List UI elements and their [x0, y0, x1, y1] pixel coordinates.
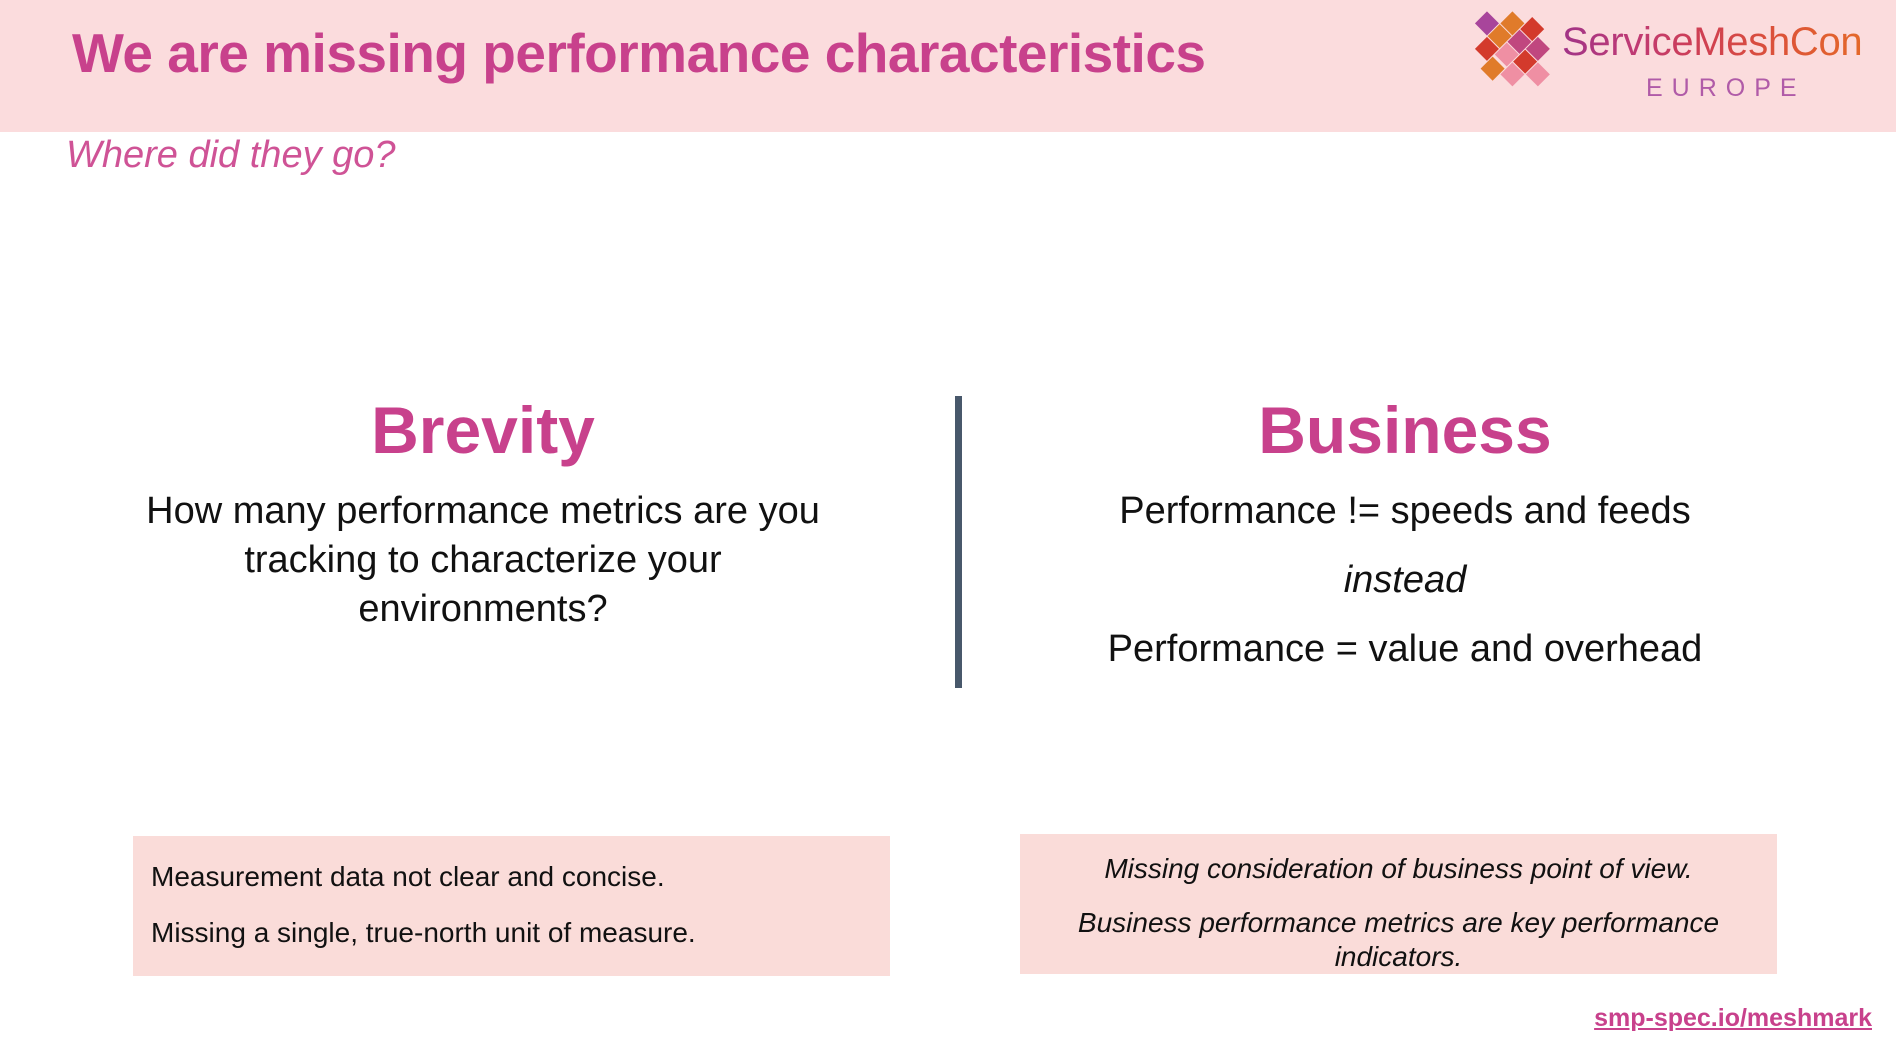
column-divider	[955, 396, 962, 688]
servicemeshcon-diamond-mesh-logo	[1468, 10, 1554, 92]
column-heading-business: Business	[1010, 396, 1800, 465]
slide-title: We are missing performance characteristi…	[72, 22, 1452, 85]
conference-logo: ServiceMeshCon EUROPE	[1468, 6, 1880, 124]
column-body-business: Performance != speeds and feeds instead …	[1010, 487, 1800, 673]
logo-region-label: EUROPE	[1646, 74, 1806, 103]
column-brevity: Brevity How many performance metrics are…	[88, 396, 878, 633]
callout-line: Missing consideration of business point …	[1050, 852, 1747, 886]
logo-wordmark: ServiceMeshCon	[1562, 20, 1862, 65]
body-line: Performance = value and overhead	[1010, 625, 1800, 674]
callout-line: Business performance metrics are key per…	[1050, 906, 1747, 974]
callout-brevity: Measurement data not clear and concise. …	[133, 836, 890, 976]
body-line: Performance != speeds and feeds	[1010, 487, 1800, 536]
footer-link-smp-spec[interactable]: smp-spec.io/meshmark	[1594, 1004, 1872, 1033]
body-line: How many performance metrics are you tra…	[133, 487, 833, 633]
callout-line: Measurement data not clear and concise.	[151, 860, 872, 894]
slide-subtitle: Where did they go?	[66, 134, 396, 177]
callout-business: Missing consideration of business point …	[1020, 834, 1777, 974]
callout-line: Missing a single, true-north unit of mea…	[151, 916, 872, 950]
column-body-brevity: How many performance metrics are you tra…	[88, 487, 878, 633]
column-heading-brevity: Brevity	[88, 396, 878, 465]
slide: We are missing performance characteristi…	[0, 0, 1896, 1063]
column-business: Business Performance != speeds and feeds…	[1010, 396, 1800, 673]
body-line-emphasis: instead	[1010, 556, 1800, 605]
